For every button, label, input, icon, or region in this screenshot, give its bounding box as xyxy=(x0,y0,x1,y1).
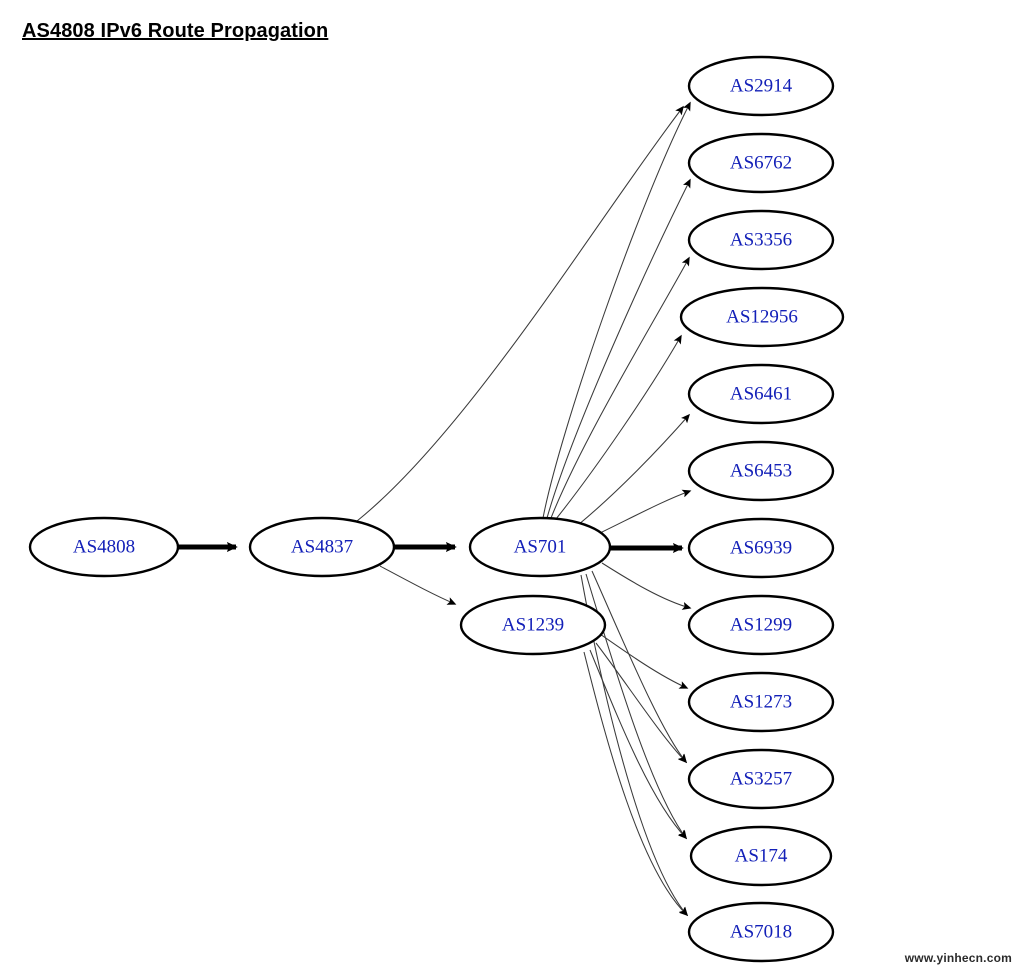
edge-as701-to-as2914 xyxy=(543,103,690,518)
node-as4808[interactable]: AS4808 xyxy=(30,518,178,576)
node-as7018[interactable]: AS7018 xyxy=(689,903,833,961)
node-label-as4837: AS4837 xyxy=(291,536,353,557)
edge-as1239-to-as174 xyxy=(590,650,686,838)
node-as1299[interactable]: AS1299 xyxy=(689,596,833,654)
route-propagation-graph: AS4808AS4837AS701AS1239AS2914AS6762AS335… xyxy=(0,0,1024,973)
edge-as701-to-as6453 xyxy=(600,491,690,533)
edge-as4837-to-as1239 xyxy=(380,566,455,604)
edge-as701-to-as3257 xyxy=(592,571,686,762)
node-label-as1299: AS1299 xyxy=(730,614,792,635)
edge-as701-to-as3356 xyxy=(551,258,689,518)
node-as6453[interactable]: AS6453 xyxy=(689,442,833,500)
node-as6762[interactable]: AS6762 xyxy=(689,134,833,192)
node-label-as6453: AS6453 xyxy=(730,460,792,481)
node-label-as1273: AS1273 xyxy=(730,691,792,712)
node-label-as6762: AS6762 xyxy=(730,152,792,173)
edge-as1239-to-as7018 xyxy=(584,652,687,915)
node-as6939[interactable]: AS6939 xyxy=(689,519,833,577)
node-as4837[interactable]: AS4837 xyxy=(250,518,394,576)
node-as2914[interactable]: AS2914 xyxy=(689,57,833,115)
node-as701[interactable]: AS701 xyxy=(470,518,610,576)
site-watermark: www.yinhecn.com xyxy=(905,951,1012,965)
node-label-as2914: AS2914 xyxy=(730,75,793,96)
edge-as701-to-as1299 xyxy=(602,563,690,608)
edge-as4837-to-as2914 xyxy=(357,107,683,521)
edge-as701-to-as6461 xyxy=(578,415,689,525)
node-label-as6939: AS6939 xyxy=(730,537,792,558)
node-label-as12956: AS12956 xyxy=(726,306,798,327)
node-as1239[interactable]: AS1239 xyxy=(461,596,605,654)
node-as3257[interactable]: AS3257 xyxy=(689,750,833,808)
node-label-as174: AS174 xyxy=(735,845,788,866)
node-label-as4808: AS4808 xyxy=(73,536,135,557)
node-as174[interactable]: AS174 xyxy=(691,827,831,885)
node-as3356[interactable]: AS3356 xyxy=(689,211,833,269)
node-as6461[interactable]: AS6461 xyxy=(689,365,833,423)
edge-as701-to-as12956 xyxy=(556,336,681,519)
node-label-as3257: AS3257 xyxy=(730,768,792,789)
node-label-as1239: AS1239 xyxy=(502,614,564,635)
node-label-as701: AS701 xyxy=(514,536,567,557)
node-as1273[interactable]: AS1273 xyxy=(689,673,833,731)
edge-as701-to-as6762 xyxy=(547,180,690,518)
node-label-as3356: AS3356 xyxy=(730,229,792,250)
edges-layer xyxy=(178,103,690,915)
node-label-as6461: AS6461 xyxy=(730,383,792,404)
nodes-layer: AS4808AS4837AS701AS1239AS2914AS6762AS335… xyxy=(30,57,843,961)
node-as12956[interactable]: AS12956 xyxy=(681,288,843,346)
node-label-as7018: AS7018 xyxy=(730,921,792,942)
